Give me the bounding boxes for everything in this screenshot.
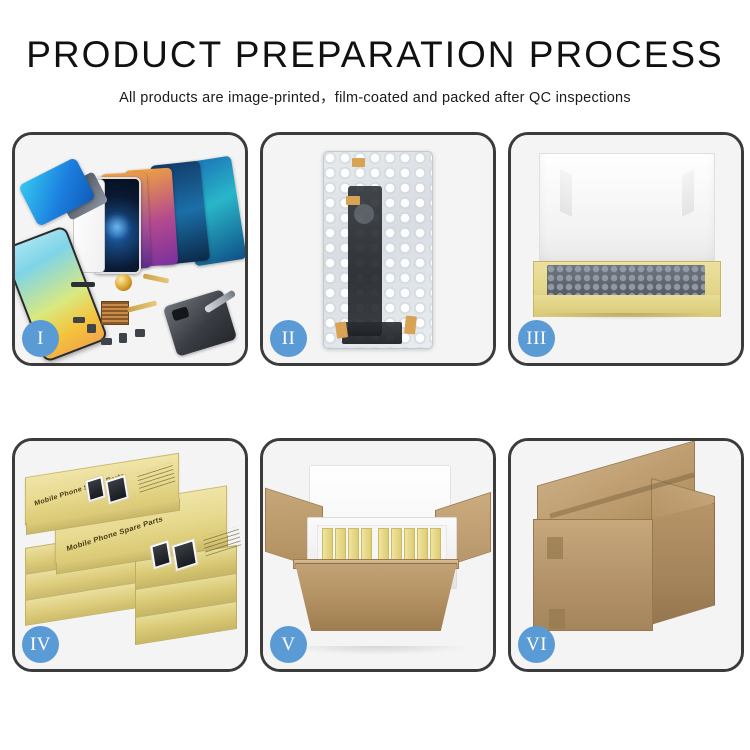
speaker-part-icon <box>115 274 132 291</box>
process-step-6: VI <box>508 438 744 672</box>
process-step-4: Mobile Phone Spare Parts Mobile Phone Sp… <box>12 438 248 672</box>
small-part-b <box>101 338 112 345</box>
flex-cable-1-icon <box>127 300 157 312</box>
step-badge-1: I <box>22 320 59 357</box>
process-step-2: II <box>260 132 496 366</box>
step-badge-4: IV <box>22 626 59 663</box>
box-lid-left-flap-icon <box>560 169 572 217</box>
carton-shadow <box>285 646 471 655</box>
page-subtitle: All products are image-printed，film-coat… <box>0 86 750 107</box>
bubble-fill-icon <box>547 265 705 297</box>
box-stack: Mobile Phone Spare Parts Mobile Phone Sp… <box>23 461 237 651</box>
window-screen-icon <box>174 541 195 568</box>
small-part-a <box>87 324 96 333</box>
process-step-3: III <box>508 132 744 366</box>
chip-grid-icon <box>101 301 129 325</box>
flex-cable-2-icon <box>143 273 169 283</box>
carton-body-icon <box>295 563 457 631</box>
tape-strip-1-icon <box>352 158 365 167</box>
wrapped-part-base-icon <box>342 322 402 344</box>
page-title: PRODUCT PREPARATION PROCESS <box>0 36 750 75</box>
small-part-c <box>119 333 127 343</box>
page-header: PRODUCT PREPARATION PROCESS All products… <box>0 0 750 107</box>
window-screen-icon <box>108 477 127 501</box>
box-lid-right-flap-icon <box>682 169 694 217</box>
process-step-1: I <box>12 132 248 366</box>
carton-right-face-icon <box>651 503 715 625</box>
window-screen-icon <box>88 478 104 499</box>
step-badge-3: III <box>518 320 555 357</box>
earpiece-mesh-icon <box>71 282 95 287</box>
bubble-wrap-bag-icon <box>323 151 433 349</box>
box-spec-text-back <box>137 462 176 493</box>
tape-strip-4-icon <box>404 315 417 334</box>
tape-strip-2-icon <box>346 196 360 205</box>
process-step-5: V <box>260 438 496 672</box>
stack-box-back: Mobile Phone Spare Parts <box>25 453 179 525</box>
window-screen-icon <box>153 543 170 567</box>
process-steps-grid: I II III <box>12 132 738 666</box>
box-lid-icon <box>539 153 715 269</box>
carton-tape-upper-icon <box>547 537 563 559</box>
camera-lens-icon <box>171 306 190 321</box>
wrapped-part-icon <box>348 186 382 336</box>
box-shadow <box>541 313 711 320</box>
tape-strip-3-icon <box>335 321 348 338</box>
box-window-back-b <box>104 474 130 506</box>
small-part-d <box>135 329 145 337</box>
small-part-e <box>73 317 85 323</box>
step-badge-5: V <box>270 626 307 663</box>
step-badge-2: II <box>270 320 307 357</box>
box-window-back-a <box>84 474 107 503</box>
carton-tape-lower-icon <box>549 609 565 629</box>
step-badge-6: VI <box>518 626 555 663</box>
